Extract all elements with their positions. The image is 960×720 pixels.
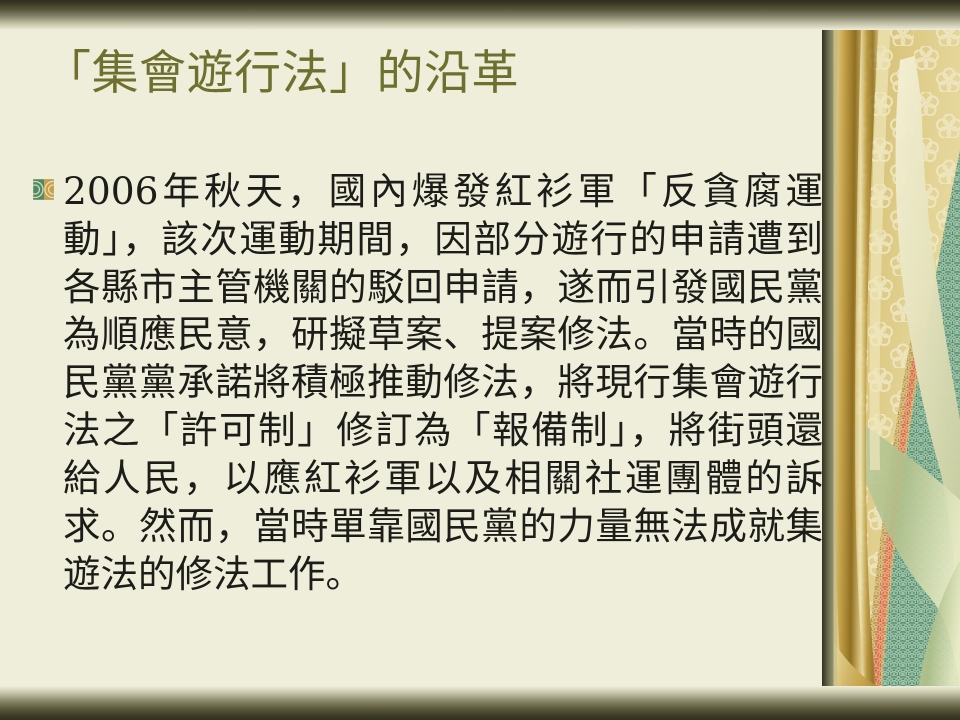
presentation-slide: 「集會遊行法」的沿革 2006年秋天，國內爆發紅衫軍「反貪腐運動」，該次 bbox=[0, 0, 960, 720]
body-paragraph-text: 2006年秋天，國內爆發紅衫軍「反貪腐運動」，該次運動期間，因部分遊行的申請遭到… bbox=[63, 168, 823, 598]
page-title: 「集會遊行法」的沿革 bbox=[44, 48, 804, 101]
square-ornament-bullet-icon bbox=[33, 179, 54, 200]
slide-content: 「集會遊行法」的沿革 2006年秋天，國內爆發紅衫軍「反貪腐運動」，該次 bbox=[0, 0, 830, 720]
decorative-border-right bbox=[822, 0, 960, 720]
bulleted-paragraph: 2006年秋天，國內爆發紅衫軍「反貪腐運動」，該次運動期間，因部分遊行的申請遭到… bbox=[33, 168, 823, 598]
